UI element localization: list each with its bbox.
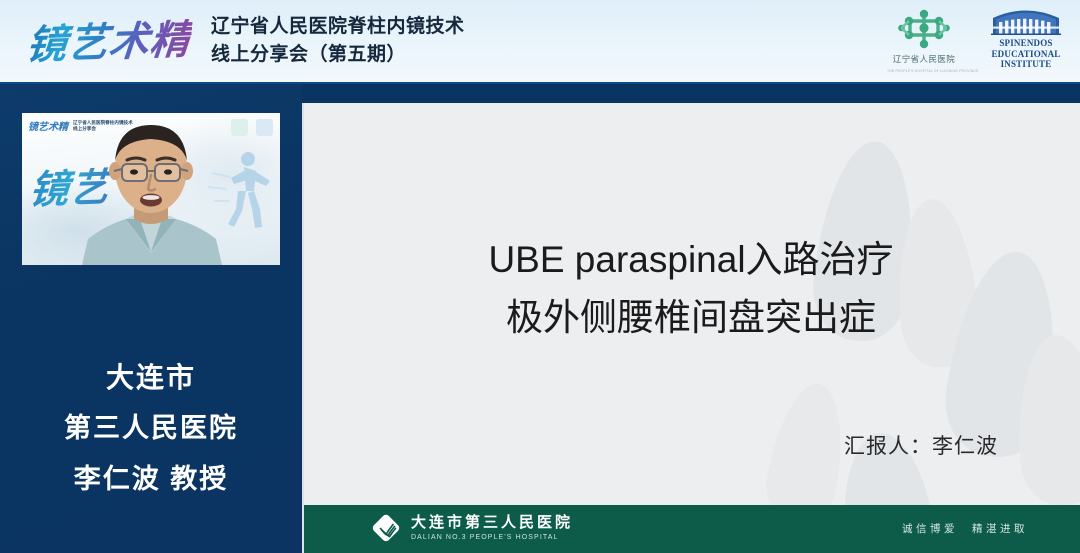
slide-title-line2: 极外侧腰椎间盘突出症 [302,289,1080,347]
liaoning-hospital-logo: 辽宁省人民医院 THE PEOPLE'S HOSPITAL OF LIAONIN… [885,8,963,74]
speaker-credentials: 大连市 第三人民医院 李仁波 教授 [0,352,302,505]
slogan-right: 精湛进取 [972,523,1028,535]
classical-building-icon [991,9,1061,35]
dalian-hospital-name-en: DALIAN NO.3 PEOPLE'S HOSPITAL [411,532,573,543]
page-header: 镜艺术精 辽宁省人民医院脊柱内镜技术 线上分享会（第五期） [0,0,1080,84]
slide-presenter: 汇报人：李仁波 [302,430,1080,460]
institute-line-1: SPINENDOS [983,38,1069,49]
dalian-hospital-names: 大连市第三人民医院 DALIAN NO.3 PEOPLE'S HOSPITAL [411,514,573,543]
speaker-sidebar: 镜艺 精 镜艺术精 辽宁省人民医院脊柱内镜技术 线上分享会 [0,84,302,553]
speaker-webcam-tile[interactable]: 镜艺 精 镜艺术精 辽宁省人民医院脊柱内镜技术 线上分享会 [22,113,280,265]
brand-calligraphy-logo: 镜艺术精 [14,7,204,71]
dalian-hospital-name-cn: 大连市第三人民医院 [411,514,573,532]
liaoning-hospital-name-en: THE PEOPLE'S HOSPITAL OF LIAONING PROVIN… [887,69,961,73]
molecular-network-icon [898,8,950,50]
presentation-slide[interactable]: UBE paraspinal入路治疗 极外侧腰椎间盘突出症 汇报人：李仁波 大连… [302,103,1080,553]
webinar-screen: 镜艺术精 辽宁省人民医院脊柱内镜技术 线上分享会（第五期） [0,0,1080,553]
spinendos-institute-name: SPINENDOS EDUCATIONAL INSTITUTE [983,38,1069,70]
speaker-name-title: 李仁波 教授 [0,454,302,505]
header-title: 辽宁省人民医院脊柱内镜技术 线上分享会（第五期） [211,13,681,69]
header-title-line2: 线上分享会（第五期） [211,41,681,69]
watermark-shape [1014,333,1080,507]
slide-title-line1: UBE paraspinal入路治疗 [302,231,1080,289]
dalian-hospital-logo: 大连市第三人民医院 DALIAN NO.3 PEOPLE'S HOSPITAL [370,512,573,544]
speaker-city: 大连市 [0,352,302,403]
liaoning-hospital-name-cn: 辽宁省人民医院 [885,53,963,65]
slide-left-edge [302,103,304,553]
institute-line-2: EDUCATIONAL [983,49,1069,60]
header-title-line1: 辽宁省人民医院脊柱内镜技术 [211,16,465,37]
brand-calligraphy-text: 镜艺术精 [24,7,194,71]
slide-title: UBE paraspinal入路治疗 极外侧腰椎间盘突出症 [302,231,1080,347]
spinendos-institute-logo: SPINENDOS EDUCATIONAL INSTITUTE [983,7,1069,77]
hospital-slogan: 诚信博爱精湛进取 [902,521,1028,536]
dalian-hospital-diamond-icon [370,512,402,544]
slogan-left: 诚信博爱 [902,523,958,535]
slide-footer-bar: 大连市第三人民医院 DALIAN NO.3 PEOPLE'S HOSPITAL … [302,505,1080,553]
institute-line-3: INSTITUTE [983,59,1069,70]
speaker-hospital: 第三人民医院 [0,403,302,454]
speaker-video-figure [22,113,280,265]
